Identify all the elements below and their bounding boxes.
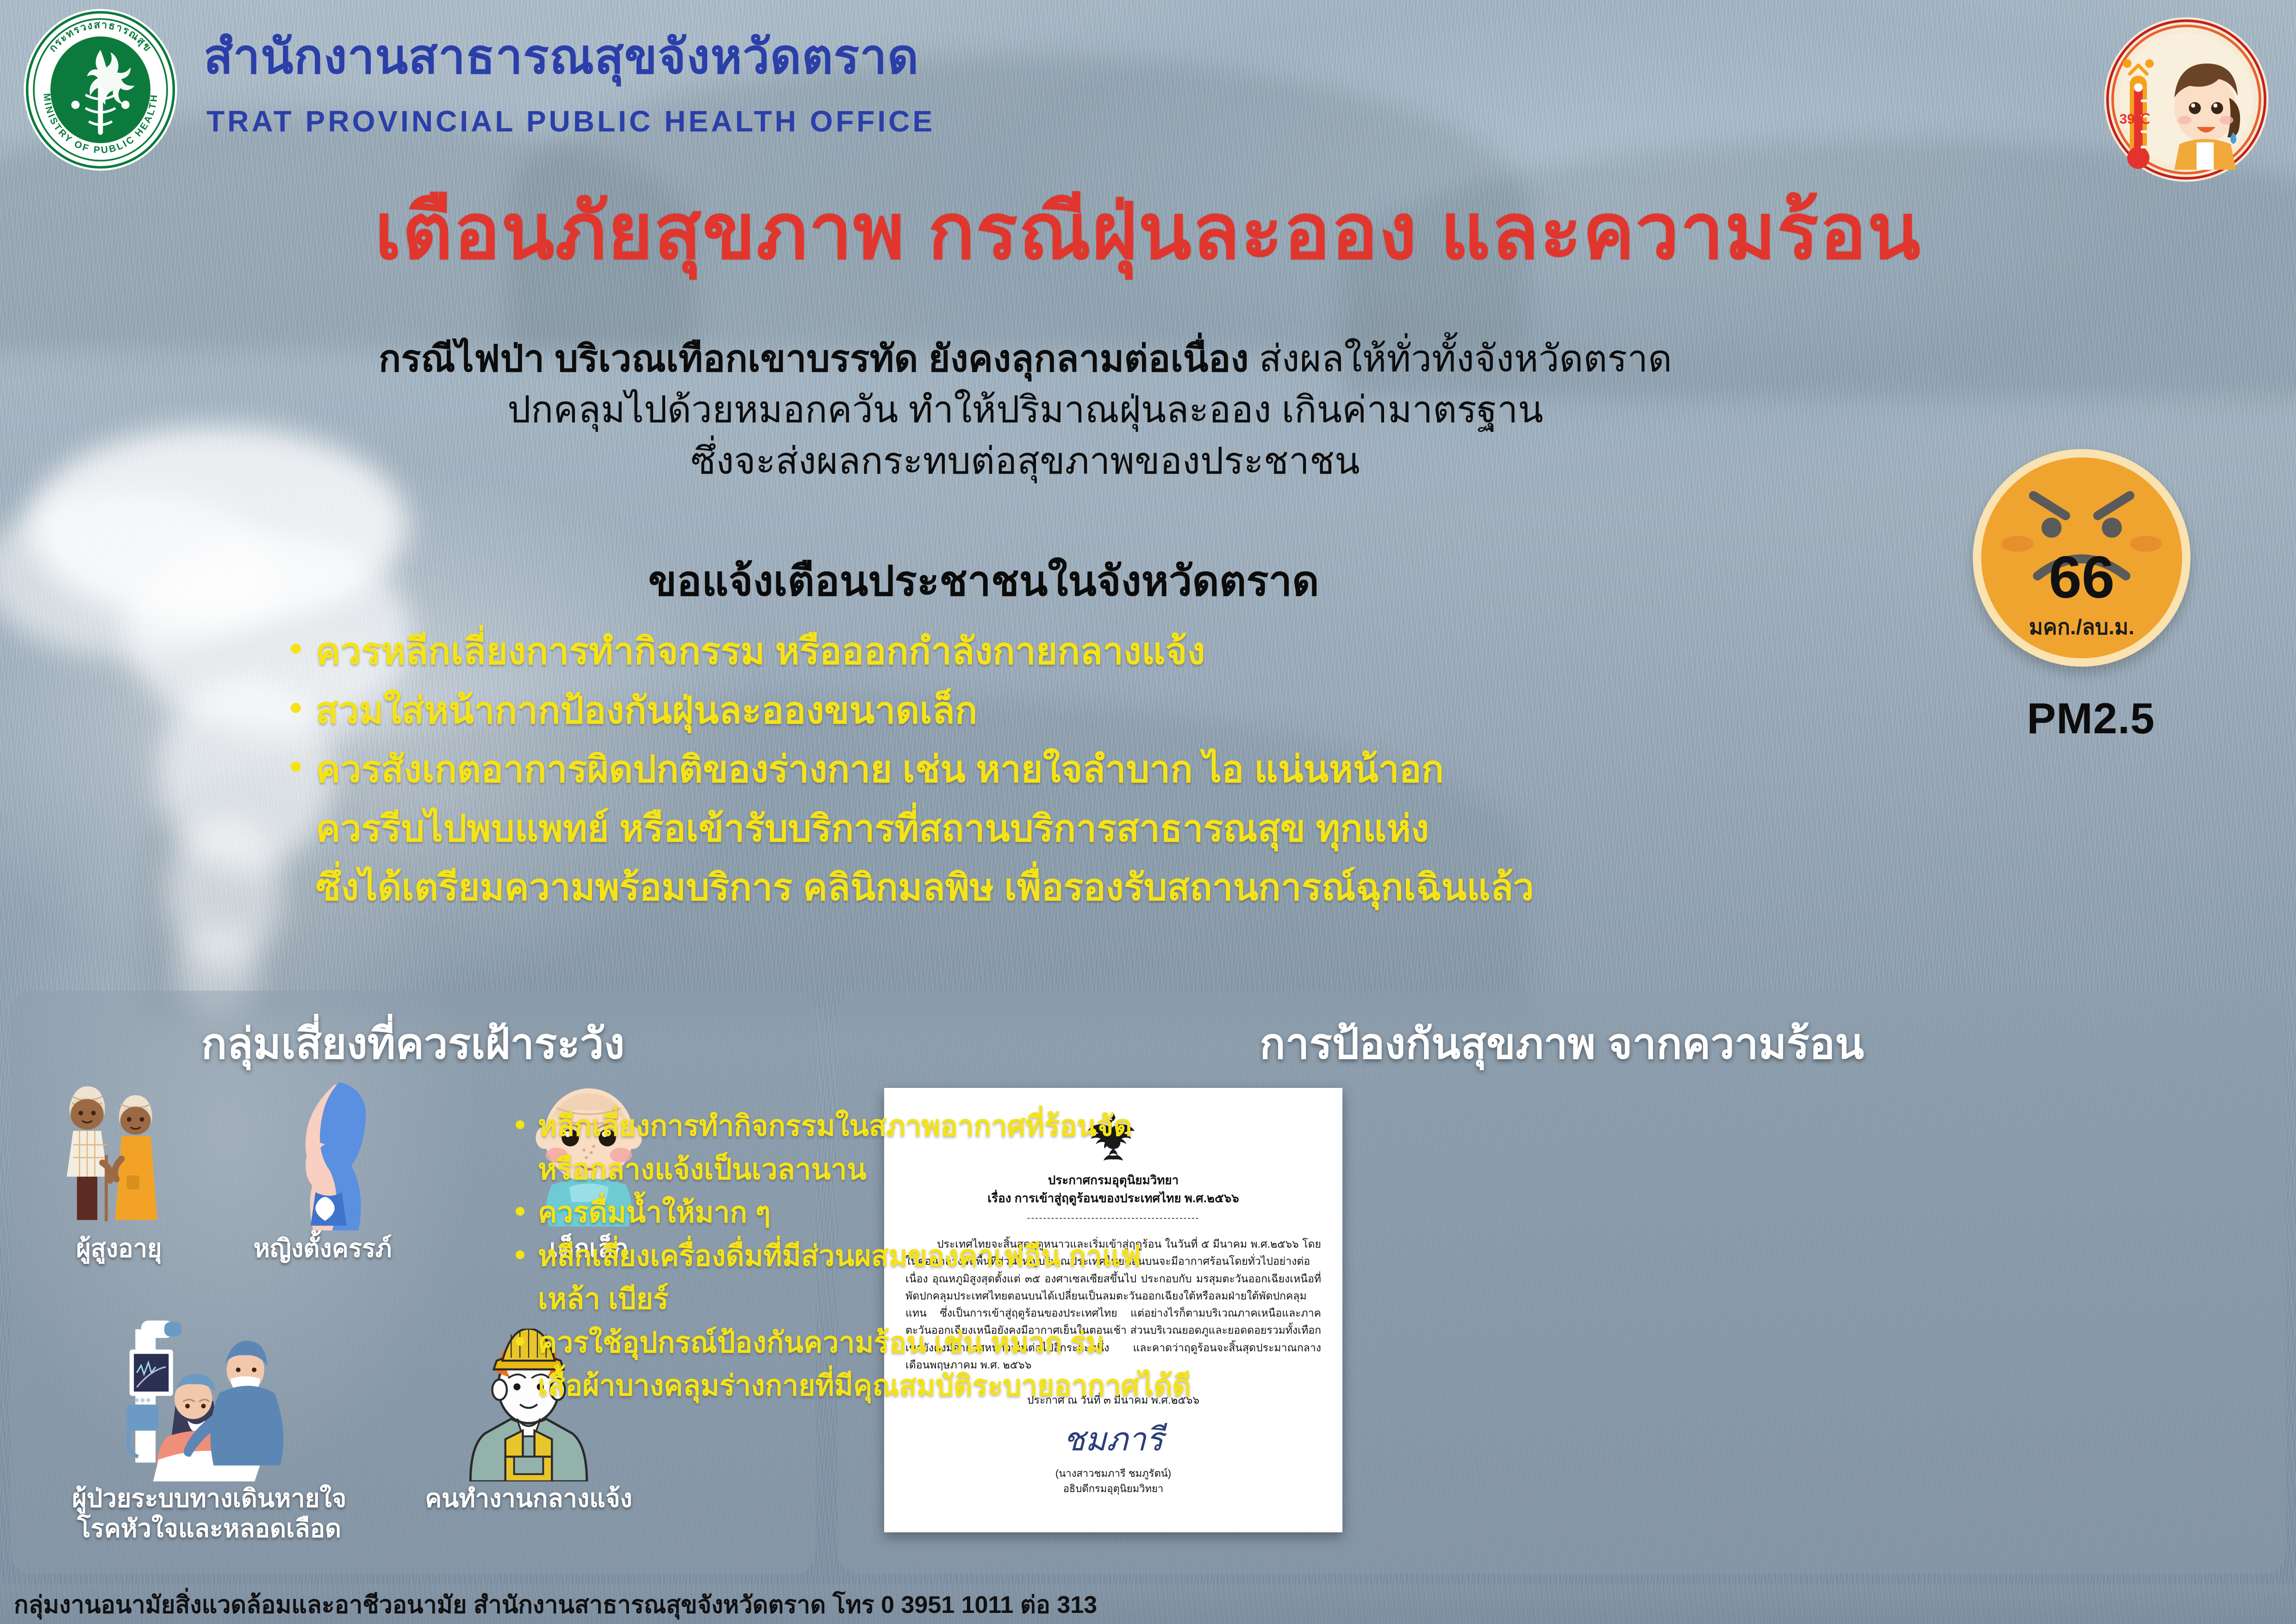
intro-lead: กรณีไฟป่า บริเวณเทือกเขาบรรทัด ยังคงลุกล… <box>379 338 1249 379</box>
list-item-continuation: เหล้า เบียร์ <box>514 1280 1421 1319</box>
elderly-couple-icon <box>43 1079 195 1231</box>
document-signer-name: (นางสาวชมภารี ชมภูรัตน์) <box>905 1466 1321 1481</box>
dust-advice-list: ควรหลีกเลี่ยงการทำกิจกรรม หรือออกกำลังกา… <box>287 625 1916 920</box>
risk-item-label: หญิงตั้งครรภ์ <box>214 1234 431 1264</box>
bullet-dot-icon <box>291 643 301 654</box>
pm25-value: 66 <box>1981 548 2182 607</box>
risk-item-patient: ผู้ป่วยระบบทางเดินหายใจ โรคหัวใจและหลอดเ… <box>61 1315 357 1544</box>
pregnant-woman-icon <box>251 1074 394 1231</box>
notice-heading: ขอแจ้งเตือนประชาชนในจังหวัดตราด <box>97 558 1870 606</box>
footer-contact-text: กลุ่มงานอนามัยสิ่งแวดล้อมและอาชีวอนามัย … <box>0 1585 1097 1624</box>
list-item-continuation: ควรรีบไปพบแพทย์ หรือเข้ารับบริการที่สถาน… <box>287 802 1916 855</box>
intro-line-1: กรณีไฟป่า บริเวณเทือกเขาบรรทัด ยังคงลุกล… <box>97 333 1953 384</box>
pm25-circle: 66 มคก./ลบ.ม. <box>1973 449 2190 667</box>
list-item: ควรหลีกเลี่ยงการทำกิจกรรม หรือออกกำลังกา… <box>287 625 1916 678</box>
bullet-dot-icon <box>516 1207 524 1216</box>
bullet-dot-icon <box>516 1120 524 1129</box>
list-item-label: ควรสังเกตอาการผิดปกติของร่างกาย เช่น หาย… <box>316 749 1444 790</box>
heat-thermometer-girl-icon: 39℃ <box>2101 14 2272 185</box>
page-header: กระทรวงสาธารณสุข MINISTRY OF PUBLIC HEAL… <box>0 0 2296 181</box>
list-item-continuation: ซึ่งได้เตรียมความพร้อมบริการ คลินิกมลพิษ… <box>287 861 1916 914</box>
bullet-dot-icon <box>291 703 301 713</box>
heat-protection-heading: การป้องกันสุขภาพ จากความร้อน <box>838 1009 2286 1077</box>
list-item: หลีกเลี่ยงการทำกิจกรรมในสภาพอากาศที่ร้อน… <box>514 1106 1421 1146</box>
hospital-patient-icon <box>100 1315 318 1481</box>
list-item: ควรใช้อุปกรณ์ป้องกันความร้อน เช่น หมวก ร… <box>514 1323 1421 1363</box>
pm25-unit: มคก./ลบ.ม. <box>1981 610 2182 644</box>
risk-item-label-line1: ผู้ป่วยระบบทางเดินหายใจ <box>61 1484 357 1514</box>
risk-item-label: คนทำงานกลางแจ้ง <box>381 1484 677 1514</box>
risk-item-label-line2: โรคหัวใจและหลอดเลือด <box>61 1514 357 1544</box>
list-item: ควรดื่มน้ำให้มาก ๆ <box>514 1193 1421 1233</box>
svg-text:39℃: 39℃ <box>2120 112 2150 127</box>
pm25-label: PM2.5 <box>1954 693 2227 743</box>
organization-title-en: TRAT PROVINCIAL PUBLIC HEALTH OFFICE <box>206 104 935 138</box>
bottom-panels: กลุ่มเสี่ยงที่ควรเฝ้าระวัง <box>0 991 2296 1588</box>
heat-advice-list: หลีกเลี่ยงการทำกิจกรรมในสภาพอากาศที่ร้อน… <box>514 1106 1421 1410</box>
intro-line-2: ปกคลุมไปด้วยหมอกควัน ทำให้ปริมาณฝุ่นละออ… <box>97 384 1953 435</box>
intro-line-3: ซึ่งจะส่งผลกระทบต่อสุขภาพของประชาชน <box>97 436 1953 487</box>
list-item: ควรสังเกตอาการผิดปกติของร่างกาย เช่น หาย… <box>287 743 1916 796</box>
page-title: เตือนภัยสุขภาพ กรณีฝุ่นละออง และความร้อน <box>0 191 2296 272</box>
list-item-label: ควรดื่มน้ำให้มาก ๆ <box>538 1197 771 1229</box>
intro-paragraph: กรณีไฟป่า บริเวณเทือกเขาบรรทัด ยังคงลุกล… <box>97 333 1953 487</box>
bullet-dot-icon <box>516 1337 524 1346</box>
intro-rest: ส่งผลให้ทั่วทั้งจังหวัดตราด <box>1249 338 1672 379</box>
ministry-of-public-health-emblem-icon: กระทรวงสาธารณสุข MINISTRY OF PUBLIC HEAL… <box>10 6 191 173</box>
document-signature: ชมภารี <box>905 1413 1321 1465</box>
bullet-dot-icon <box>516 1250 524 1259</box>
page-footer: กลุ่มงานอนามัยสิ่งแวดล้อมและอาชีวอนามัย … <box>0 1584 2296 1624</box>
list-item-label: สวมใส่หน้ากากป้องกันฝุ่นละอองขนาดเล็ก <box>316 690 977 731</box>
list-item-label: หลีกเลี่ยงเครื่องดื่มที่มีส่วนผสมของคาเฟ… <box>538 1240 1141 1272</box>
risk-item-elderly: ผู้สูงอายุ <box>15 1079 223 1264</box>
list-item: หลีกเลี่ยงเครื่องดื่มที่มีส่วนผสมของคาเฟ… <box>514 1237 1421 1276</box>
list-item-label: หลีกเลี่ยงการทำกิจกรรมในสภาพอากาศที่ร้อน… <box>538 1110 1132 1142</box>
bullet-dot-icon <box>291 762 301 772</box>
list-item-continuation: หรือกลางแจ้งเป็นเวลานาน <box>514 1150 1421 1190</box>
pm25-gauge: 66 มคก./ลบ.ม. PM2.5 <box>1954 449 2227 810</box>
list-item-label: ควรใช้อุปกรณ์ป้องกันความร้อน เช่น หมวก ร… <box>538 1327 1104 1359</box>
risk-item-label: ผู้สูงอายุ <box>15 1234 223 1264</box>
list-item-continuation: เสื้อผ้าบางคลุมร่างกายที่มีคุณสมบัติระบา… <box>514 1366 1421 1406</box>
list-item: สวมใส่หน้ากากป้องกันฝุ่นละอองขนาดเล็ก <box>287 684 1916 737</box>
organization-title-th: สำนักงานสาธารณสุขจังหวัดตราด <box>204 32 919 81</box>
list-item-label: ควรหลีกเลี่ยงการทำกิจกรรม หรือออกกำลังกา… <box>316 631 1205 672</box>
risk-groups-heading: กลุ่มเสี่ยงที่ควรเฝ้าระวัง <box>10 1009 816 1077</box>
risk-item-pregnant: หญิงตั้งครรภ์ <box>214 1074 431 1264</box>
document-signer-title: อธิบดีกรมอุตุนิยมวิทยา <box>905 1481 1321 1496</box>
